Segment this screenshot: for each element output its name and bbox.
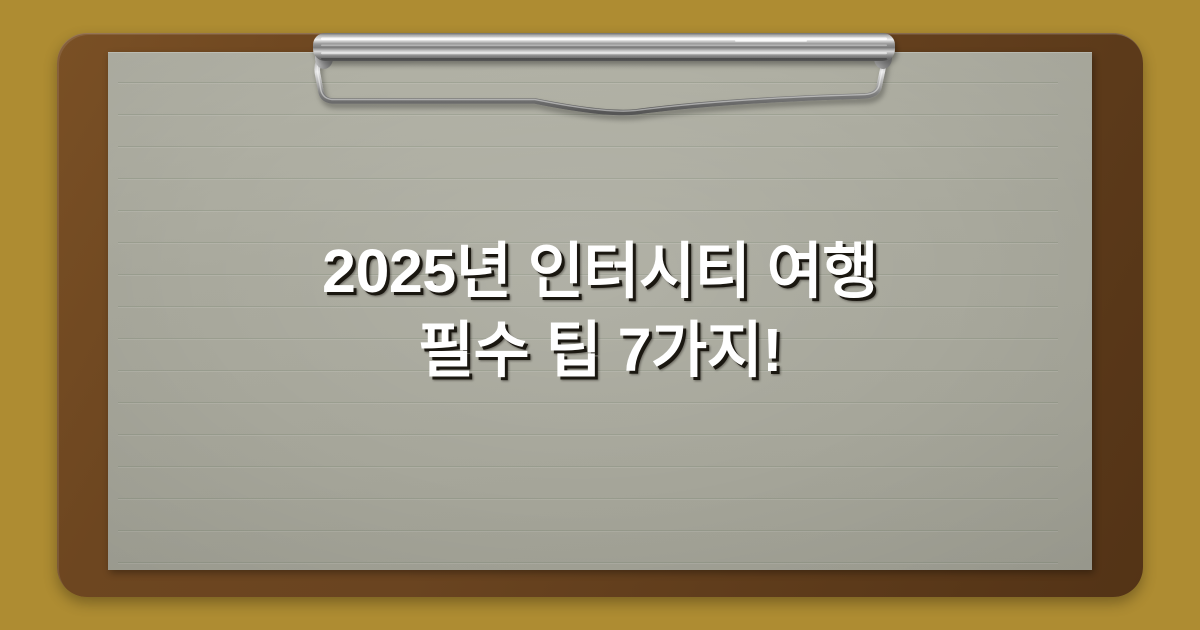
poster-canvas: 2025년 인터시티 여행 필수 팁 7가지! bbox=[0, 0, 1200, 630]
headline-line-2: 필수 팁 7가지! bbox=[418, 311, 782, 390]
headline-line-1: 2025년 인터시티 여행 bbox=[322, 232, 878, 311]
page-title: 2025년 인터시티 여행 필수 팁 7가지! bbox=[108, 52, 1092, 570]
